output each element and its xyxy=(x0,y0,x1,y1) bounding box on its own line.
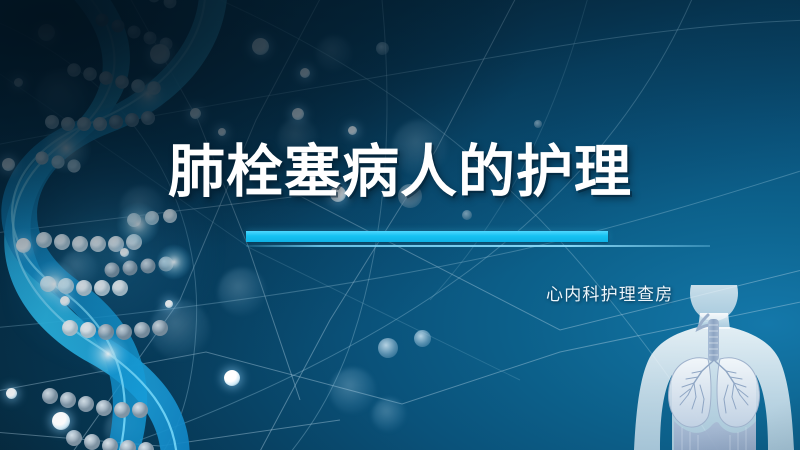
title-block: 肺栓塞病人的护理 xyxy=(0,142,800,204)
slide-subtitle: 心内科护理查房 xyxy=(546,280,673,305)
title-underline-hairline xyxy=(246,245,710,247)
slide-title: 肺栓塞病人的护理 xyxy=(168,142,632,204)
presentation-slide: 肺栓塞病人的护理 心内科护理查房 xyxy=(0,0,800,450)
title-underline-bar xyxy=(246,231,608,242)
background-vignette xyxy=(0,0,800,450)
